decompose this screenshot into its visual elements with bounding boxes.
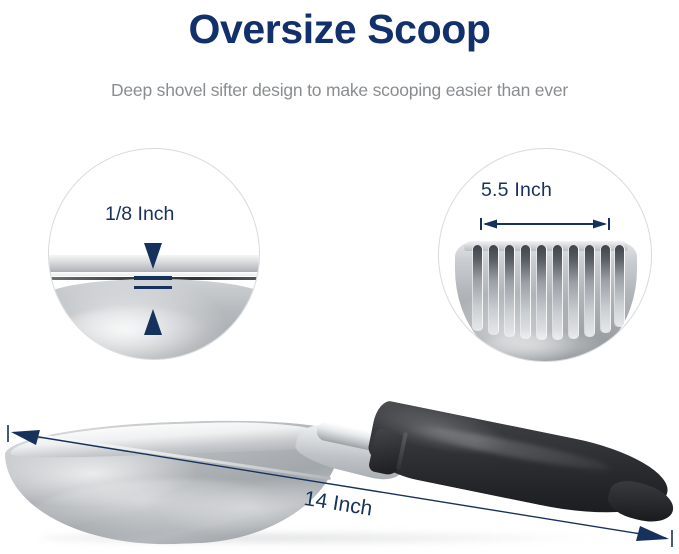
sifter-slot <box>553 245 562 340</box>
sifter-slot <box>585 245 594 337</box>
sifter-slot <box>489 245 498 335</box>
sifter-slot <box>615 245 624 327</box>
arrow-up-icon <box>144 309 162 335</box>
sifter-slot <box>473 245 482 331</box>
width-label: 5.5 Inch <box>481 179 552 202</box>
thickness-label: 1/8 Inch <box>105 203 174 226</box>
thickness-gap-bar-lower <box>134 286 172 289</box>
thickness-gap-bar-upper <box>134 276 172 280</box>
sifter-slot <box>569 245 578 339</box>
handle-tip <box>604 476 677 529</box>
scoop-edge-crosssection-image <box>48 255 260 360</box>
sifter-head-image <box>455 241 637 362</box>
sifter-slot <box>521 245 530 339</box>
arrow-down-icon <box>144 243 162 269</box>
page-subtitle: Deep shovel sifter design to make scoopi… <box>0 80 679 101</box>
edge-lower-sheen <box>59 307 209 359</box>
sifter-lower-sheen <box>477 333 609 362</box>
sifter-slot <box>537 245 546 340</box>
double-headed-arrow-icon <box>479 217 611 231</box>
callout-thickness: 1/8 Inch <box>48 148 260 360</box>
sifter-slot <box>505 245 514 337</box>
header: Oversize Scoop Deep shovel sifter design… <box>0 0 679 120</box>
product-photo <box>0 388 679 554</box>
callout-width: 5.5 Inch <box>438 148 652 362</box>
page-title: Oversize Scoop <box>0 6 679 53</box>
sifter-slot <box>601 245 610 333</box>
